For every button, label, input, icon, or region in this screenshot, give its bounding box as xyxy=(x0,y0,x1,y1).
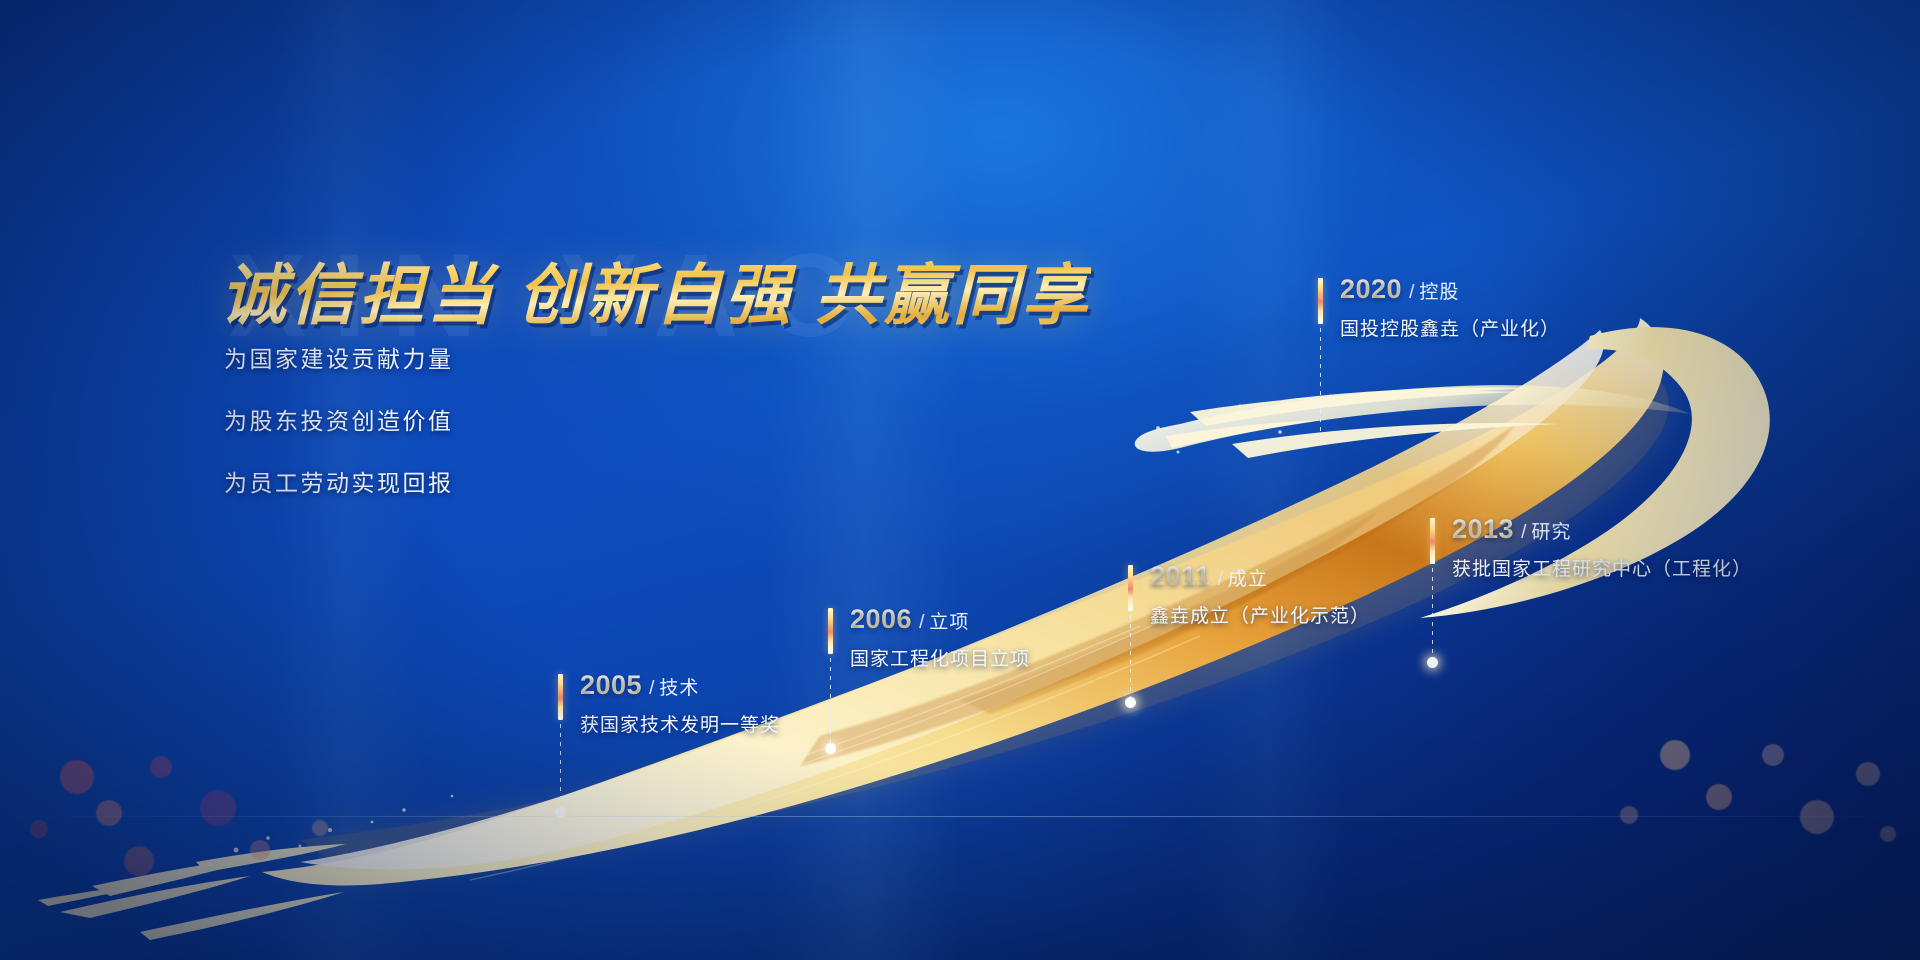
page-title: 诚信担当 创新自强 共赢同享 xyxy=(220,242,1091,338)
slogan-item-3: 为员工劳动实现回报 xyxy=(224,464,454,498)
milestone-accent-bar xyxy=(1128,565,1133,611)
milestone-leader-line xyxy=(1432,568,1433,660)
banner-stage: XIN YAO 诚信担当 创新自强 共赢同享 为国家建设贡献力量 为股东投资创造… xyxy=(0,0,1920,960)
milestone-year: 2011 xyxy=(1150,561,1211,591)
milestone-description: 鑫垚成立（产业化示范） xyxy=(1150,601,1370,628)
milestone-separator: / xyxy=(1409,282,1414,303)
milestone-accent-bar xyxy=(828,608,833,654)
milestone-separator: / xyxy=(1218,569,1223,590)
milestone-leader-line xyxy=(830,658,831,746)
milestone-leader-line xyxy=(560,724,561,810)
milestone-separator: / xyxy=(649,678,654,699)
milestone-description: 国投控股鑫垚（产业化） xyxy=(1340,314,1560,341)
slogan-item-2: 为股东投资创造价值 xyxy=(224,402,454,436)
milestone-category: 研究 xyxy=(1531,522,1571,543)
milestone-separator: / xyxy=(1521,522,1526,543)
milestone-accent-bar xyxy=(558,674,563,720)
horizon-divider xyxy=(0,816,1920,817)
milestone-description: 获批国家工程研究中心（工程化） xyxy=(1452,554,1752,581)
milestone-description: 获国家技术发明一等奖 xyxy=(580,710,780,737)
milestone-dot xyxy=(825,743,836,754)
milestone-category: 控股 xyxy=(1419,282,1459,303)
milestone-leader-line xyxy=(1130,615,1131,701)
slogan-list: 为国家建设贡献力量 为股东投资创造价值 为员工劳动实现回报 xyxy=(224,340,454,526)
slogan-item-1: 为国家建设贡献力量 xyxy=(224,340,454,374)
milestone-year: 2006 xyxy=(850,604,912,634)
milestone-leader-line xyxy=(1320,328,1321,438)
milestone-description: 国家工程化项目立项 xyxy=(850,644,1030,671)
milestone-category: 成立 xyxy=(1228,569,1268,590)
milestone-category: 立项 xyxy=(929,612,969,633)
milestone-dot xyxy=(1125,697,1136,708)
milestone-year: 2013 xyxy=(1452,514,1514,544)
milestone-accent-bar xyxy=(1318,278,1323,324)
milestone-dot xyxy=(555,807,566,818)
milestone-category: 技术 xyxy=(659,678,699,699)
milestone-accent-bar xyxy=(1430,518,1435,564)
milestone-separator: / xyxy=(919,612,924,633)
milestone-year: 2020 xyxy=(1340,274,1402,304)
milestone-year: 2005 xyxy=(580,670,642,700)
milestone-dot xyxy=(1427,657,1438,668)
